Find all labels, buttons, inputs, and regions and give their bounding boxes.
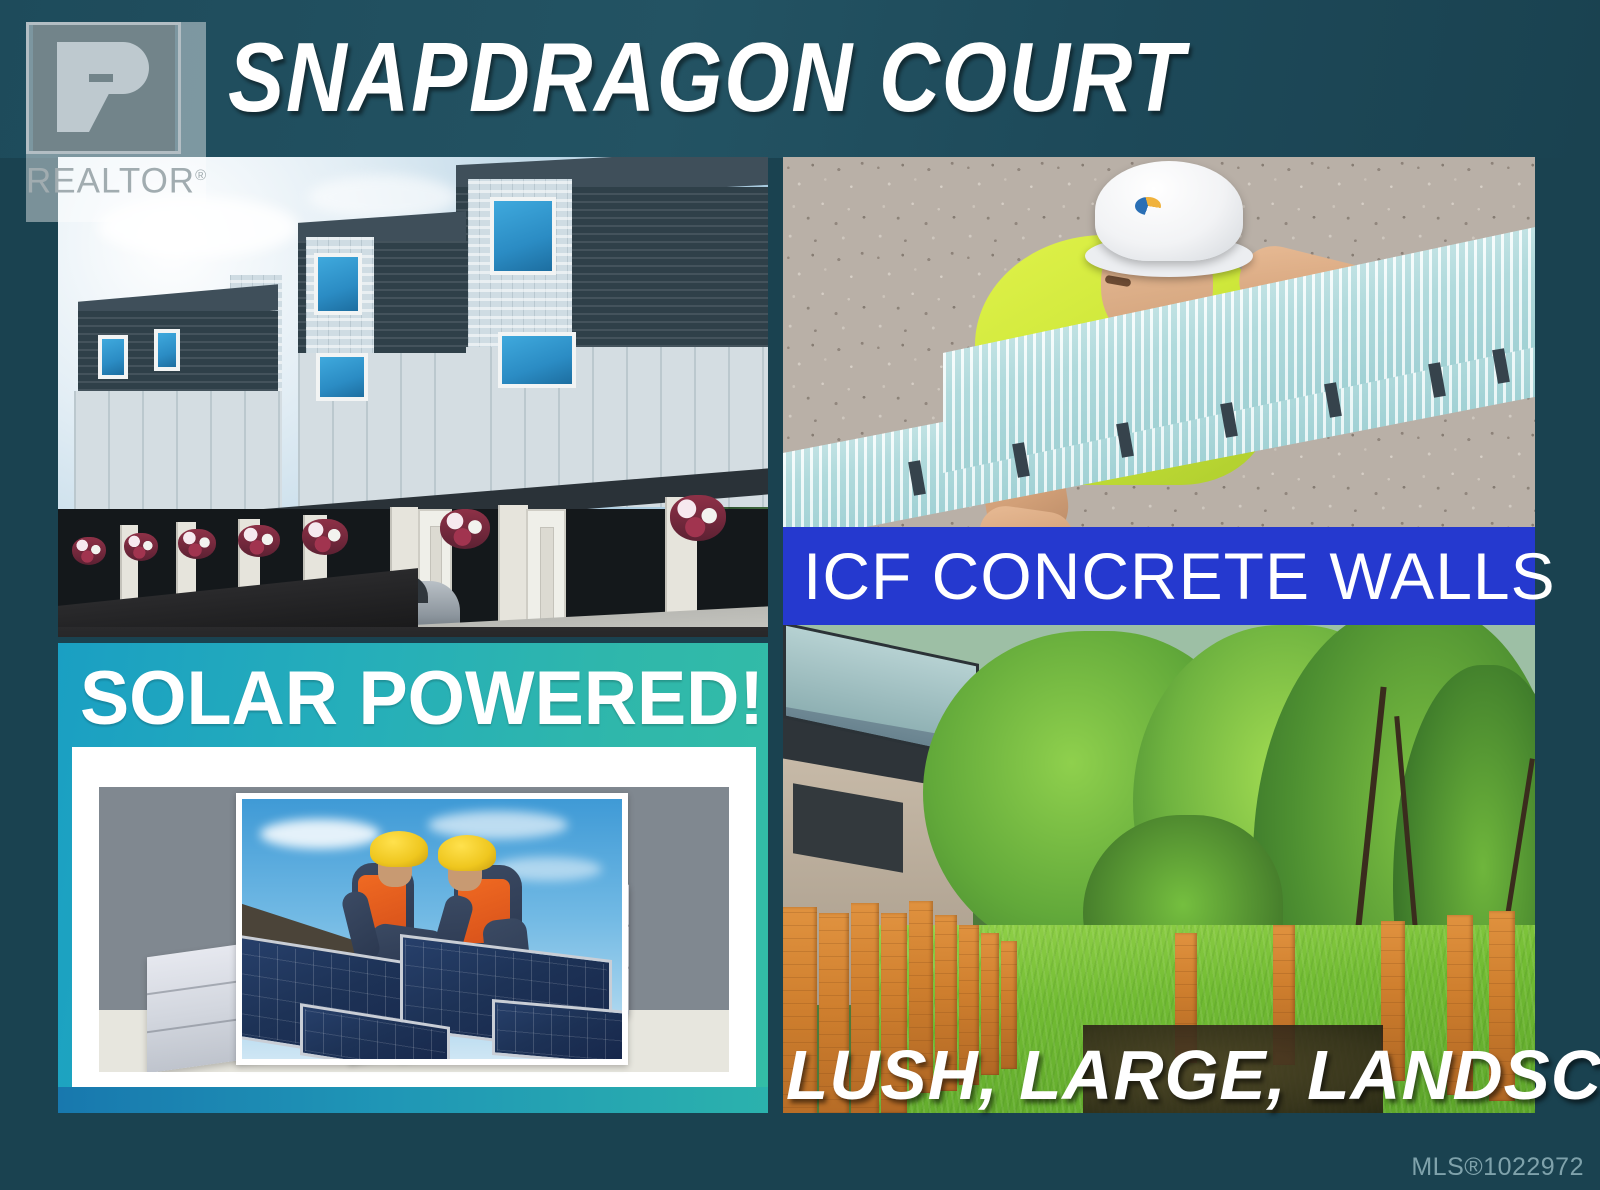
listing-photo-collage: SNAPDRAGON COURT REALTOR® [0, 0, 1600, 1190]
window [490, 197, 556, 275]
flower-basket [238, 525, 280, 557]
header-bar: SNAPDRAGON COURT [0, 0, 1600, 158]
flower-basket [178, 529, 216, 559]
icf-banner-label: ICF CONCRETE WALLS [803, 527, 1525, 625]
solar-illustration-card [72, 747, 756, 1092]
flower-basket [72, 537, 106, 565]
townhouse-exterior-photo [58, 157, 768, 637]
hard-hat-icon [370, 831, 428, 867]
solar-panel [492, 999, 628, 1065]
solar-installers-photo [236, 793, 628, 1065]
cloud-shape [260, 819, 380, 849]
flower-basket [440, 509, 490, 549]
window [98, 335, 128, 379]
asphalt-driveway [58, 627, 768, 637]
icf-construction-photo [783, 157, 1535, 537]
realtor-logo-scrim [26, 22, 206, 222]
page-title: SNAPDRAGON COURT [228, 12, 1346, 142]
cloud-shape [428, 811, 568, 839]
hard-hat-icon [438, 835, 496, 871]
icf-banner: ICF CONCRETE WALLS [783, 527, 1535, 625]
realtor-logo: REALTOR® [26, 22, 181, 207]
hard-hat-icon [1095, 161, 1243, 261]
window [316, 353, 368, 401]
solar-powered-panel: SOLAR POWERED! [58, 643, 768, 1113]
solar-headline: SOLAR POWERED! [80, 657, 740, 741]
pillar [498, 505, 528, 637]
flower-basket [302, 519, 348, 555]
mls-number: MLS®1022972 [1411, 1153, 1584, 1182]
window [314, 253, 362, 315]
flower-basket [124, 533, 158, 561]
solar-bottom-gradient-strip [58, 1087, 768, 1113]
landscape-caption: LUSH, LARGE, LANDSCAPE [786, 1036, 1529, 1114]
window [498, 332, 576, 388]
light-siding [74, 391, 282, 521]
hat-logo-icon [1135, 197, 1161, 215]
flower-basket [670, 495, 726, 541]
window [154, 329, 180, 371]
